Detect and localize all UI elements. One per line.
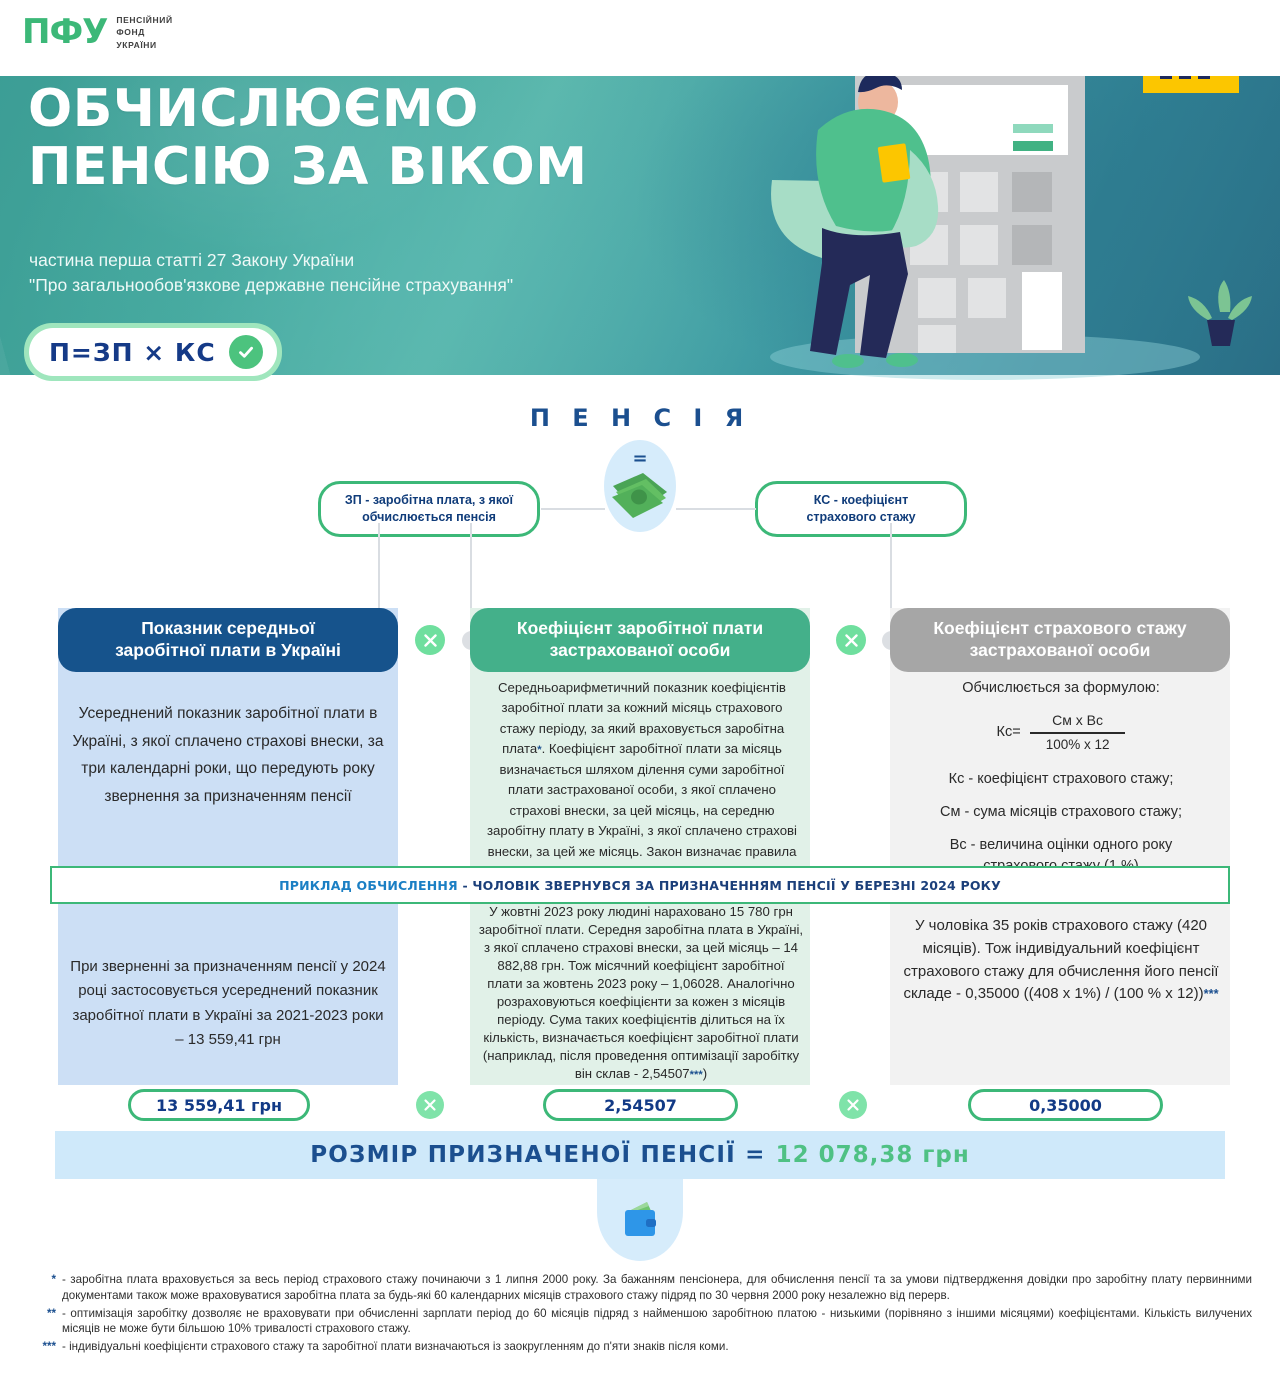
page-subtitle-line-1: частина перша статті 27 Закону України [29, 248, 513, 273]
footnote-text: - індивідуальні коефіцієнти страхового с… [62, 1339, 1252, 1355]
legend-coefficient-line-2: страхового стажу [768, 509, 954, 526]
column-header-salary-coefficient-line-2: застрахованої особи [517, 640, 763, 662]
legend-vc-line-1: Вс - величина оцінки одного року [900, 835, 1222, 857]
column-body-avg-salary: Усереднений показник заробітної плати в … [70, 700, 386, 810]
result-bar: РОЗМІР ПРИЗНАЧЕНОЇ ПЕНСІЇ = 12 078,38 гр… [55, 1131, 1225, 1179]
footnote-item: ** - оптимізація заробітку дозволяє не в… [36, 1306, 1252, 1338]
footnote-item: *** - індивідуальні коефіцієнти страхово… [36, 1339, 1252, 1355]
multiply-icon-top-1 [415, 625, 445, 655]
column-header-avg-salary: Показник середньої заробітної плати в Ук… [58, 608, 398, 672]
example-record-coefficient: У чоловіка 35 років страхового стажу (42… [898, 915, 1224, 1006]
example-salary-coefficient: У жовтні 2023 року людині нараховано 15 … [478, 903, 804, 1083]
column-header-record-coefficient: Коефіцієнт страхового стажу застраховано… [890, 608, 1230, 672]
example-strip-rest: - ЧОЛОВІК ЗВЕРНУВСЯ ЗА ПРИЗНАЧЕННЯМ ПЕНС… [458, 878, 1001, 893]
formula-intro: Обчислюється за формулою: [900, 678, 1222, 700]
footnote-marker-triple-asterisk-col3: *** [1204, 986, 1219, 1001]
footnote-marker: ** [36, 1306, 56, 1338]
page-subtitle-line-2: "Про загальнообов'язкове державне пенсій… [29, 273, 513, 298]
footnote-marker: * [36, 1272, 56, 1304]
result-label: РОЗМІР ПРИЗНАЧЕНОЇ ПЕНСІЇ = [310, 1142, 765, 1168]
logo-line-1: ПЕНСІЙНИЙ [116, 14, 172, 26]
diagram-title: П Е Н С І Я [0, 404, 1280, 432]
formula-text: П=ЗП × КС [49, 338, 216, 367]
multiply-icon-bottom-1 [416, 1091, 444, 1119]
column-header-salary-coefficient-line-1: Коефіцієнт заробітної плати [517, 618, 763, 640]
page-subtitle: частина перша статті 27 Закону України "… [29, 248, 513, 298]
formula-badge: П=ЗП × КС [24, 323, 282, 381]
example-strip-text: ПРИКЛАД ОБЧИСЛЕННЯ - ЧОЛОВІК ЗВЕРНУВСЯ З… [279, 878, 1001, 893]
legend-kc: Кс - коефіцієнт страхового стажу; [900, 769, 1222, 791]
legend-coefficient-line-1: КС - коефіцієнт [768, 492, 954, 509]
kc-formula: Кс= См х Вс 100% х 12 [900, 710, 1222, 755]
example-record-coefficient-part-1: У чоловіка 35 років страхового стажу (42… [903, 917, 1218, 1002]
legend-coefficient-caption: КС - коефіцієнт страхового стажу [755, 481, 967, 537]
column-header-avg-salary-line-2: заробітної плати в Україні [115, 640, 341, 662]
result-value: 12 078,38 грн [776, 1142, 970, 1168]
example-salary-coefficient-part-2: ) [703, 1066, 707, 1081]
column-header-salary-coefficient: Коефіцієнт заробітної плати застраховано… [470, 608, 810, 672]
example-strip-label: ПРИКЛАД ОБЧИСЛЕННЯ [279, 878, 458, 893]
example-avg-salary: При зверненні за призначенням пенсії у 2… [70, 955, 386, 1052]
column-body-record-coefficient: Обчислюється за формулою: Кс= См х Вс 10… [900, 678, 1222, 889]
footnote-marker: *** [36, 1339, 56, 1355]
page-title-line-1: ОБЧИСЛЮЄМО [28, 80, 587, 138]
column-header-record-coefficient-line-1: Коефіцієнт страхового стажу [933, 618, 1186, 640]
legend-cm: См - сума місяців страхового стажу; [900, 802, 1222, 824]
formula-left-hand-side: Кс= [997, 722, 1021, 744]
banknotes-icon: = [604, 440, 676, 532]
logo-wordmark: ПЕНСІЙНИЙ ФОНД УКРАЇНИ [116, 14, 172, 51]
legend-salary-line-1: ЗП - заробітна плата, з якої [331, 492, 527, 509]
formula-numerator: См х Вс [1030, 710, 1126, 732]
connector-line-left [541, 508, 605, 510]
value-salary-coefficient: 2,54507 [543, 1089, 738, 1121]
value-avg-salary: 13 559,41 грн [128, 1089, 310, 1121]
check-icon [229, 335, 263, 369]
logo-line-2: ФОНД [116, 26, 172, 38]
example-strip: ПРИКЛАД ОБЧИСЛЕННЯ - ЧОЛОВІК ЗВЕРНУВСЯ З… [50, 866, 1230, 904]
footnote-text: - оптимізація заробітку дозволяє не врах… [62, 1306, 1252, 1338]
footnote-marker-triple-asterisk-col2: *** [690, 1069, 703, 1081]
logo-mark-text: ПФУ [22, 15, 107, 49]
equals-sign: = [632, 452, 647, 466]
page-title-line-2: ПЕНСІЮ ЗА ВІКОМ [28, 138, 587, 196]
column-header-avg-salary-line-1: Показник середньої [115, 618, 341, 640]
formula-denominator: 100% х 12 [1030, 732, 1126, 755]
example-salary-coefficient-part-1: У жовтні 2023 року людині нараховано 15 … [479, 904, 803, 1081]
footnotes: * - заробітна плата враховується за весь… [36, 1272, 1252, 1357]
multiply-icon-top-2 [836, 625, 866, 655]
multiply-icon-bottom-2 [839, 1091, 867, 1119]
value-record-coefficient: 0,35000 [968, 1089, 1163, 1121]
legend-salary-line-2: обчислюється пенсія [331, 509, 527, 526]
logo-bar: ПФУ ПЕНСІЙНИЙ ФОНД УКРАЇНИ [0, 0, 1280, 76]
legend-salary-caption: ЗП - заробітна плата, з якої обчислюєтьс… [318, 481, 540, 537]
footnote-text: - заробітна плата враховується за весь п… [62, 1272, 1252, 1304]
wallet-icon [597, 1179, 683, 1261]
footnote-item: * - заробітна плата враховується за весь… [36, 1272, 1252, 1304]
logo-line-3: УКРАЇНИ [116, 39, 172, 51]
pfu-logo: ПФУ ПЕНСІЙНИЙ ФОНД УКРАЇНИ [22, 14, 173, 51]
page-title: ОБЧИСЛЮЄМО ПЕНСІЮ ЗА ВІКОМ [28, 80, 587, 196]
connector-line-right [676, 508, 756, 510]
column-header-record-coefficient-line-2: застрахованої особи [933, 640, 1186, 662]
